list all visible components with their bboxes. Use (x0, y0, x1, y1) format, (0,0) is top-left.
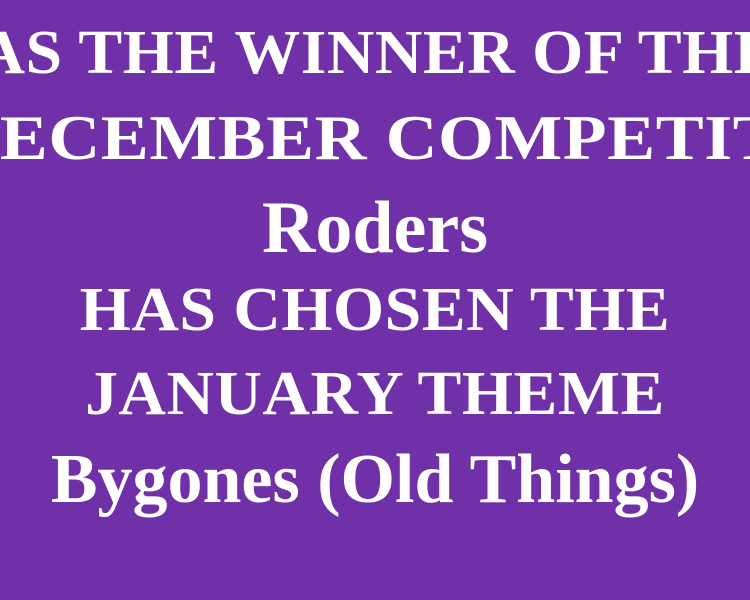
announcement-action-line-1: HAS CHOSEN THE (0, 279, 750, 363)
announcement-intro-line-2: DECEMBER COMPETITION (0, 107, 750, 191)
theme-name: Bygones (Old Things) (0, 445, 750, 525)
announcement-poster: AS THE WINNER OF THE DECEMBER COMPETITIO… (0, 0, 750, 600)
announcement-intro-line-1: AS THE WINNER OF THE (0, 22, 750, 107)
announcement-action-line-2: JANUARY THEME (0, 363, 750, 445)
winner-name: Roders (0, 191, 750, 279)
